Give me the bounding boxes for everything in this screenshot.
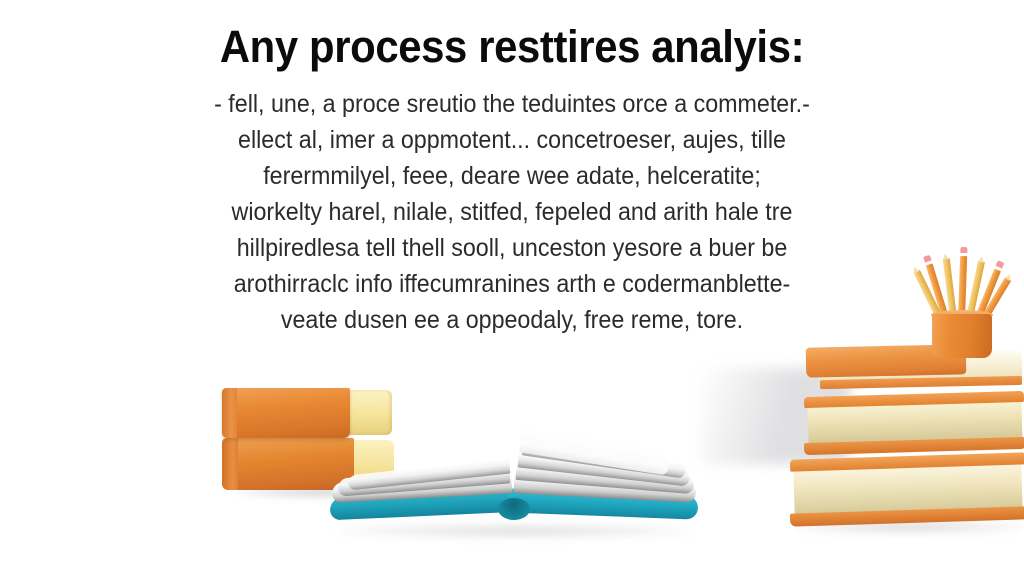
body-line: hillpiredlesa tell thell sooll, unceston…: [36, 230, 988, 266]
body-line: - fell, une, a proce sreutio the teduint…: [36, 86, 988, 122]
body-line: ellect al, imer a oppmotent... concetroe…: [36, 122, 988, 158]
pencil-cup-image: [900, 258, 1008, 358]
body-line: ferermmilyel, feee, deare wee adate, hel…: [36, 158, 988, 194]
right-book-stack-image: [790, 352, 1024, 532]
open-book-image: [322, 432, 700, 542]
slide-canvas: Any process resttires analyis: - fell, u…: [0, 0, 1024, 585]
body-paragraph: - fell, une, a proce sreutio the teduint…: [0, 74, 1024, 338]
body-line: arothirraclc info iffecumranines arth e …: [36, 266, 988, 302]
cup-body: [932, 314, 992, 358]
body-line: veate dusen ee a oppeodaly, free reme, t…: [36, 302, 988, 338]
book-spine: [498, 498, 530, 520]
body-line: wiorkelty harel, nilale, stitfed, fepele…: [36, 194, 988, 230]
text-block: Any process resttires analyis: - fell, u…: [0, 0, 1024, 338]
book-spine: [222, 438, 238, 490]
pencil-icon: [958, 256, 967, 318]
book-cover: [222, 388, 350, 438]
book-spine: [222, 388, 237, 438]
page-title: Any process resttires analyis:: [36, 0, 988, 74]
